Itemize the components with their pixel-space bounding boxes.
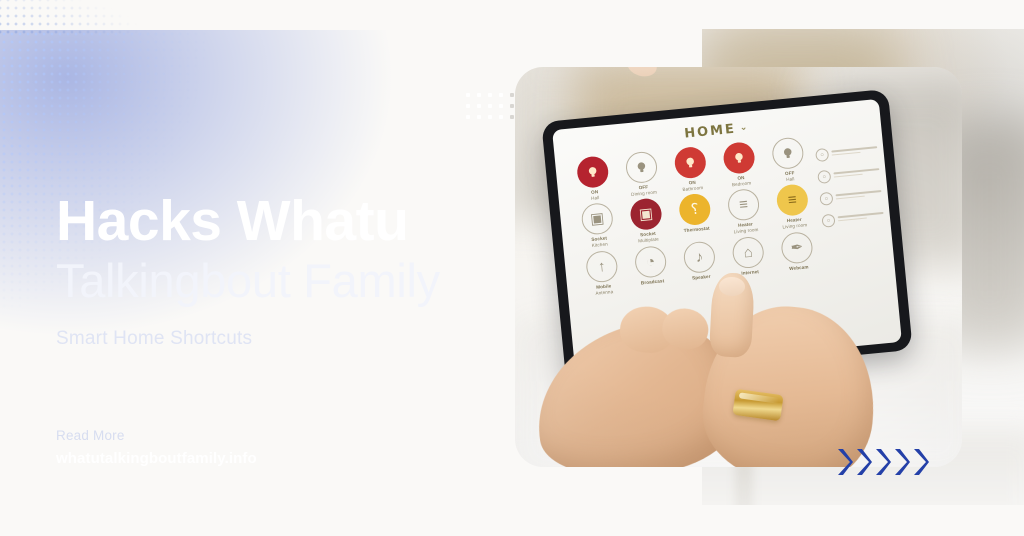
tablet-side-list-item[interactable]: ○ (821, 209, 884, 228)
read-more-label[interactable]: Read More (56, 428, 257, 443)
internet-icon: ⌂ (731, 236, 765, 270)
text-line (834, 173, 863, 177)
grid-dot (510, 115, 514, 119)
tablet-tile-label: Webcam (776, 263, 821, 273)
tablet-tile[interactable]: ✒Webcam (773, 230, 822, 279)
tablet-tile-label: ONBathroom (670, 178, 716, 194)
tablet-tile-label: OFFHall (767, 169, 813, 185)
text-line (836, 190, 882, 196)
side-item-text-lines (836, 190, 882, 202)
grid-dot (499, 115, 503, 119)
tablet-tile[interactable]: ONBedroom (715, 140, 764, 189)
lightbulb-icon (771, 136, 805, 170)
tablet-tile-label: HeaterLiving room (772, 216, 818, 232)
tablet-tile[interactable]: OFFHall (764, 136, 813, 185)
bell-device-icon: ○ (821, 214, 835, 228)
tablet-tile-label: OFFDining room (621, 183, 667, 199)
tablet-side-list-item[interactable]: ○ (815, 143, 878, 162)
broadcast-icon: ◔ (634, 245, 668, 279)
tablet-tile[interactable]: ONHall (569, 154, 618, 203)
tablet-tile[interactable]: OFFDining room (618, 150, 667, 199)
text-line (833, 168, 879, 174)
chevron-right-icon (855, 447, 873, 477)
bottom-margin-strip (0, 505, 1024, 536)
tablet-tile-label: MobileAntenna (581, 282, 627, 298)
grid-dot (466, 104, 470, 108)
tablet-tile[interactable]: ≡HeaterLiving room (769, 183, 818, 232)
tablet-tile[interactable]: ONBathroom (666, 145, 715, 194)
grid-dot (488, 104, 492, 108)
text-line (836, 195, 865, 199)
grid-dot (488, 93, 492, 97)
text-line (831, 146, 877, 152)
wifi-device-icon: ○ (815, 148, 829, 162)
text-line (838, 212, 884, 218)
text-line (838, 217, 867, 221)
chevron-down-icon: ⌄ (739, 122, 749, 133)
tablet-photo-card: HOME⌄ ONHallOFFDining roomONBathroomONBe… (515, 67, 962, 467)
grid-dot (466, 93, 470, 97)
tablet-tile[interactable]: ⸮Thermostat (671, 192, 720, 241)
tablet-tile-label: Speaker (679, 272, 724, 282)
speaker-icon: ♪ (682, 240, 716, 274)
grid-dot (510, 104, 514, 108)
thermostat-icon: ⸮ (678, 193, 712, 227)
grid-dot (477, 93, 481, 97)
grid-dot (466, 115, 470, 119)
webcam-icon: ✒ (780, 231, 814, 265)
side-item-text-lines (831, 146, 877, 158)
grid-dot (477, 115, 481, 119)
mobile-antenna-icon: ↑ (585, 250, 619, 284)
tablet-tile[interactable]: ▣SocketKitchen (573, 202, 622, 251)
top-margin-strip (0, 0, 1024, 29)
headline-block: Hacks Whatu Talkingbout Family Smart Hom… (56, 192, 526, 350)
tablet-tile-label: HeaterLiving room (723, 220, 769, 236)
side-item-text-lines (838, 212, 884, 224)
lightbulb-icon (625, 150, 659, 184)
plug-device-icon: ○ (819, 192, 833, 206)
grid-dot (499, 104, 503, 108)
tablet-side-list: ○○○○ (815, 143, 885, 237)
tablet-side-list-item[interactable]: ○ (819, 187, 882, 206)
tablet-tile[interactable]: ♪Speaker (676, 240, 725, 289)
socket-icon: ▣ (580, 202, 614, 236)
tablet-tile-label: Thermostat (674, 225, 719, 235)
cta-block[interactable]: Read More whatutalkingboutfamily.info (56, 428, 257, 467)
side-item-text-lines (833, 168, 879, 180)
tablet-tile[interactable]: ◔Broadcast (627, 244, 676, 293)
headline-line-2: Talkingbout Family (56, 255, 526, 308)
tablet-tile-label: ONBedroom (718, 173, 764, 189)
grid-dot (510, 93, 514, 97)
grid-dot (488, 115, 492, 119)
tablet-tile-room: Antenna (582, 288, 627, 298)
grid-dot (477, 104, 481, 108)
lightbulb-icon (576, 155, 610, 189)
heater-icon: ≡ (775, 184, 809, 218)
text-line (832, 151, 861, 155)
website-url[interactable]: whatutalkingboutfamily.info (56, 450, 257, 467)
lightbulb-icon (673, 146, 707, 180)
lightbulb-icon (722, 141, 756, 175)
chevron-arrows-decoration (836, 447, 930, 477)
tablet-tile-label: Broadcast (630, 277, 675, 287)
grid-dot (499, 93, 503, 97)
tablet-device-grid: ONHallOFFDining roomONBathroomONBedroomO… (569, 135, 830, 301)
tablet-tile[interactable]: ≡HeaterLiving room (720, 188, 769, 237)
headline-line-1: Hacks Whatu (56, 192, 526, 251)
tablet-tile-label: ONHall (572, 187, 618, 203)
tablet-tile-label: SocketMultiplate (625, 230, 671, 246)
heater-icon: ≡ (727, 188, 761, 222)
chevron-right-icon (836, 447, 854, 477)
socket-icon: ▣ (629, 198, 663, 232)
chevron-right-icon (874, 447, 892, 477)
thermometer-icon: ○ (817, 170, 831, 184)
tablet-tile-label: SocketKitchen (577, 235, 623, 251)
chevron-right-icon (893, 447, 911, 477)
chevron-right-icon (912, 447, 930, 477)
tablet-home-title-text: HOME (684, 122, 737, 142)
subtitle: Smart Home Shortcuts (56, 328, 526, 350)
tablet-tile[interactable]: ↑MobileAntenna (578, 249, 627, 298)
tablet-tile[interactable]: ▣SocketMultiplate (622, 197, 671, 246)
tablet-side-list-item[interactable]: ○ (817, 165, 880, 184)
banner-container: Hacks Whatu Talkingbout Family Smart Hom… (0, 0, 1024, 536)
